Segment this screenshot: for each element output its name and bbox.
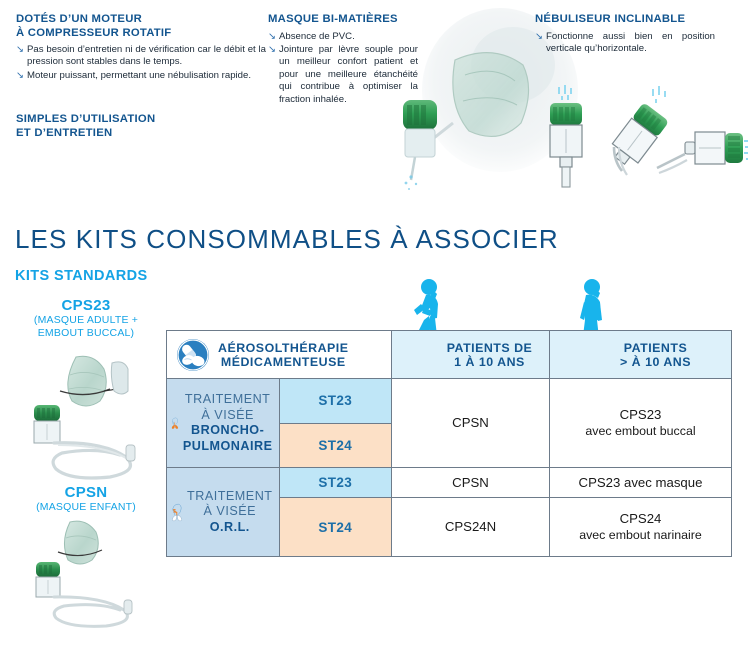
table-row: TRAITEMENT À VISÉE O.R.L. ST23 CPSN CPS2…	[167, 468, 732, 498]
nebulizer-horizontal-icon	[655, 110, 748, 180]
feature-motor: DOTÉS D’UN MOTEUR À COMPRESSEUR ROTATIF …	[16, 13, 266, 83]
value-cell-adult: CPS23 avec embout buccal	[550, 379, 732, 468]
consumable-kits-table: AÉROSOLTHÉRAPIE MÉDICAMENTEUSE PATIENTS …	[166, 330, 732, 557]
feature-motor-title: DOTÉS D’UN MOTEUR À COMPRESSEUR ROTATIF	[16, 13, 266, 40]
cps23-kit-photo	[14, 345, 162, 485]
value-cell-adult: CPS23 avec masque	[550, 468, 732, 498]
feature-masque: MASQUE BI-MATIÈRES ↘Absence de PVC. ↘Joi…	[268, 13, 418, 107]
bullet-item: ↘Fonctionne aussi bien en position verti…	[535, 31, 715, 56]
category-label-broncho: TRAITEMENT À VISÉE BRONCHO- PULMONAIRE	[183, 392, 273, 454]
product-desc: (MASQUE ADULTE + EMBOUT BUCCAL)	[6, 314, 166, 339]
header-adult-label: PATIENTS > À 10 ANS	[550, 341, 731, 369]
product-desc: (MASQUE ENFANT)	[6, 501, 166, 514]
arrow-bullet-icon: ↘	[268, 31, 276, 43]
header-adult-cell: PATIENTS > À 10 ANS	[550, 331, 732, 379]
st-code-cell: ST23	[279, 379, 392, 424]
brochure-page: DOTÉS D’UN MOTEUR À COMPRESSEUR ROTATIF …	[0, 0, 748, 646]
arrow-bullet-icon: ↘	[268, 44, 276, 56]
feature-simples-title: SIMPLES D’UTILISATION ET D’ENTRETIEN	[16, 113, 246, 140]
value-cell-adult: CPS24 avec embout narinaire	[550, 498, 732, 557]
arrow-bullet-icon: ↘	[16, 44, 24, 56]
pills-icon	[176, 338, 210, 372]
st-code-cell: ST24	[279, 498, 392, 557]
value-cell-child: CPS24N	[392, 498, 550, 557]
category-cell-orl: TRAITEMENT À VISÉE O.R.L.	[167, 468, 280, 557]
product-caption-cps23: CPS23 (MASQUE ADULTE + EMBOUT BUCCAL)	[6, 297, 166, 339]
product-code: CPSN	[6, 484, 166, 501]
bullet-item: ↘Absence de PVC.	[268, 31, 418, 43]
feature-simples: SIMPLES D’UTILISATION ET D’ENTRETIEN	[16, 113, 246, 144]
feature-masque-title: MASQUE BI-MATIÈRES	[268, 13, 418, 27]
feature-motor-bullets: ↘Pas besoin d’entretien ni de vérificati…	[16, 44, 266, 82]
table-header-row: AÉROSOLTHÉRAPIE MÉDICAMENTEUSE PATIENTS …	[167, 331, 732, 379]
value-cell-child: CPSN	[392, 379, 550, 468]
nebulizer-vertical-icon	[540, 85, 592, 190]
product-code: CPS23	[6, 297, 166, 314]
kits-table: AÉROSOLTHÉRAPIE MÉDICAMENTEUSE PATIENTS …	[166, 330, 732, 598]
product-caption-cpsn: CPSN (MASQUE ENFANT)	[6, 484, 166, 514]
feature-masque-bullets: ↘Absence de PVC. ↘Jointure par lèvre sou…	[268, 31, 418, 106]
head-lungs-orange-icon	[171, 384, 179, 462]
bullet-item: ↘Moteur puissant, permettant une nébulis…	[16, 70, 266, 82]
header-child-label: PATIENTS DE 1 À 10 ANS	[392, 341, 549, 369]
st-code-cell: ST23	[279, 468, 392, 498]
category-label-orl: TRAITEMENT À VISÉE O.R.L.	[187, 489, 272, 536]
arrow-bullet-icon: ↘	[535, 31, 543, 43]
bullet-item: ↘Pas besoin d’entretien ni de vérificati…	[16, 44, 266, 69]
cpsn-kit-photo	[14, 518, 162, 628]
head-lungs-white-icon	[171, 473, 183, 551]
header-treatment-cell: AÉROSOLTHÉRAPIE MÉDICAMENTEUSE	[167, 331, 392, 379]
category-cell-broncho: TRAITEMENT À VISÉE BRONCHO- PULMONAIRE	[167, 379, 280, 468]
value-cell-child: CPSN	[392, 468, 550, 498]
bullet-item: ↘Jointure par lèvre souple pour un meill…	[268, 44, 418, 106]
st-code-cell: ST24	[279, 423, 392, 468]
feature-nebuliseur-title: NÉBULISEUR INCLINABLE	[535, 13, 715, 27]
page-title: LES KITS CONSOMMABLES À ASSOCIER	[15, 224, 559, 255]
header-child-cell: PATIENTS DE 1 À 10 ANS	[392, 331, 550, 379]
section-subtitle: KITS STANDARDS	[15, 268, 148, 284]
arrow-bullet-icon: ↘	[16, 70, 24, 82]
feature-nebuliseur: NÉBULISEUR INCLINABLE ↘Fonctionne aussi …	[535, 13, 715, 56]
header-treatment-label: AÉROSOLTHÉRAPIE MÉDICAMENTEUSE	[218, 341, 349, 369]
feature-nebuliseur-bullets: ↘Fonctionne aussi bien en position verti…	[535, 31, 715, 56]
table-row: TRAITEMENT À VISÉE BRONCHO- PULMONAIRE S…	[167, 379, 732, 424]
